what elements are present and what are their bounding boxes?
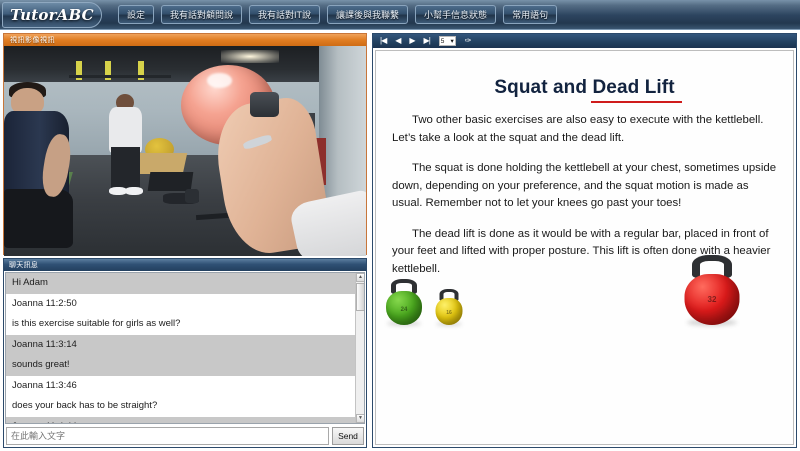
ceiling-rail — [69, 75, 170, 78]
last-page-icon[interactable]: ▶| — [424, 37, 430, 45]
bench — [147, 172, 193, 191]
chat-panel-title: 聊天訊息 — [9, 260, 38, 270]
video-panel: 視訊影像視訊 — [3, 33, 367, 255]
next-page-icon[interactable]: ▶ — [409, 37, 414, 45]
chat-panel-titlebar: 聊天訊息 — [4, 259, 366, 271]
kettlebell-red: 32 — [682, 255, 742, 325]
nav-button-common-phrases[interactable]: 常用語句 — [503, 5, 557, 24]
exercise-ball-highlight — [207, 73, 232, 88]
video-stream-view[interactable] — [4, 46, 366, 256]
slide-paragraph-1: Two other basic exercises are also easy … — [392, 112, 777, 147]
kettlebell-weight-label: 16 — [446, 310, 452, 316]
wooden-box — [132, 153, 187, 174]
nav-button-contact-after-class[interactable]: 讓課後與我聯繫 — [327, 5, 408, 24]
brand-label: TutorABC — [10, 6, 94, 24]
chat-input-row: Send — [4, 425, 366, 447]
nav-button-talk-to-teacher[interactable]: 我有話對顧問說 — [161, 5, 242, 24]
background-person-legs — [111, 147, 140, 189]
previous-page-icon[interactable]: ◀ — [395, 37, 400, 45]
slide-content[interactable]: Squat and Dead Lift Two other basic exer… — [375, 50, 794, 445]
slide-panel: |◀ ◀ ▶ ▶| 5 ▾ ✑ Squat and Dead Lift Two … — [372, 33, 797, 448]
chat-scrollbar[interactable]: ▲ ▼ — [355, 273, 364, 423]
pointer-tool-icon[interactable]: ✑ — [465, 37, 471, 45]
chat-input[interactable] — [6, 427, 329, 445]
scroll-up-arrow-icon[interactable]: ▲ — [356, 273, 365, 282]
background-person-shoe — [125, 187, 143, 195]
slide-toolbar: |◀ ◀ ▶ ▶| 5 ▾ ✑ — [373, 34, 796, 48]
nav-button-assistant-status[interactable]: 小幫手信息狀態 — [415, 5, 496, 24]
gym-ceiling — [4, 46, 366, 82]
slide-title-underlined: Dead Lift — [592, 77, 674, 98]
chat-panel: 聊天訊息 Hi Adam Joanna 11:2:50 is this exer… — [3, 258, 367, 448]
top-navigation-bar: TutorABC 設定 我有話對顧問說 我有話對IT說 讓課後與我聯繫 小幫手信… — [0, 0, 800, 30]
kettlebell-weight-label: 24 — [401, 307, 408, 313]
slide-title-plain: Squat and — [494, 77, 592, 98]
scroll-down-arrow-icon[interactable]: ▼ — [356, 414, 365, 423]
scrollbar-thumb[interactable] — [356, 283, 365, 311]
kettlebell-yellow: 16 — [434, 289, 464, 325]
nav-button-group: 設定 我有話對顧問說 我有話對IT說 讓課後與我聯繫 小幫手信息狀態 常用語句 — [118, 5, 557, 24]
chat-message-meta: Joanna 11:3:14 — [6, 335, 364, 356]
ceiling-light — [221, 50, 279, 63]
page-number-value: 5 — [441, 38, 445, 45]
slide-paragraph-2: The squat is done holding the kettlebell… — [392, 160, 777, 213]
video-panel-title: 視訊影像視訊 — [10, 35, 55, 45]
slide-title: Squat and Dead Lift — [392, 77, 777, 99]
chat-message-list[interactable]: Hi Adam Joanna 11:2:50 is this exercise … — [5, 272, 365, 424]
nav-button-settings[interactable]: 設定 — [118, 5, 154, 24]
first-page-icon[interactable]: |◀ — [380, 37, 386, 45]
send-button[interactable]: Send — [332, 427, 364, 445]
nav-button-talk-to-it[interactable]: 我有話對IT說 — [249, 5, 320, 24]
chat-message-meta: Joanna 11:4:44 — [6, 417, 364, 425]
video-panel-titlebar: 視訊影像視訊 — [4, 34, 366, 46]
page-number-select[interactable]: 5 ▾ — [439, 36, 456, 46]
chat-message: sounds great! — [6, 355, 364, 376]
chat-message-meta: Joanna 11:3:46 — [6, 376, 364, 397]
kettlebell-weight-label: 32 — [708, 295, 717, 304]
foreground-person-shorts — [4, 189, 73, 248]
tutorabc-logo: TutorABC — [2, 2, 102, 28]
dumbbell — [185, 189, 199, 204]
chat-message-meta: Joanna 11:2:50 — [6, 294, 364, 315]
chat-message: is this exercise suitable for girls as w… — [6, 314, 364, 335]
chat-message: Hi Adam — [6, 273, 364, 294]
kettlebell-green: 24 — [384, 279, 424, 325]
chevron-down-icon: ▾ — [451, 37, 454, 45]
hand-grip — [250, 92, 279, 117]
chat-message: does your back has to be straight? — [6, 396, 364, 417]
